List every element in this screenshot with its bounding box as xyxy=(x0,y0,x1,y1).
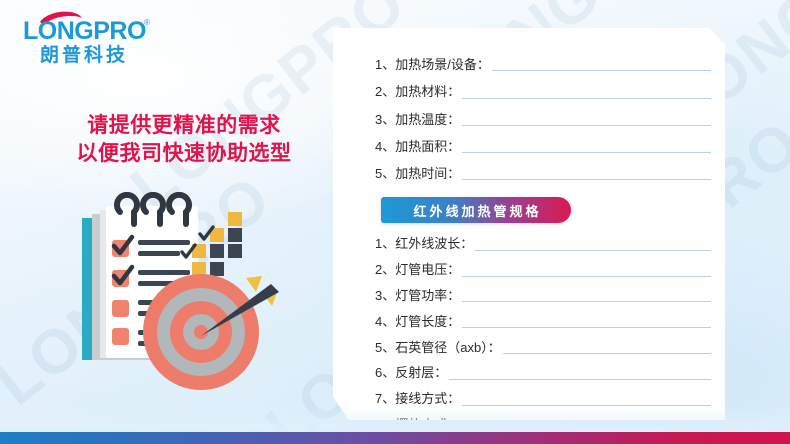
illustration-svg xyxy=(76,192,301,392)
form-label: 6、反射层： xyxy=(375,366,447,382)
form-paper-panel: 1、加热场景/设备： 2、加热材料： 3、加热温度： 4、加热面积： 5、加热时… xyxy=(333,28,725,420)
form-label: 2、灯管电压： xyxy=(375,263,460,279)
company-logo: LONGPRO ® 朗普科技 xyxy=(18,8,158,64)
form-row[interactable]: 4、加热面积： xyxy=(375,140,725,156)
form-label: 3、灯管功率： xyxy=(375,289,460,305)
target-dartboard-icon xyxy=(143,274,259,390)
form-row[interactable]: 2、加热材料： xyxy=(375,85,725,101)
section-banner-label: 红外线加热管规格 xyxy=(410,201,541,220)
form-row[interactable]: 5、加热时间： xyxy=(375,167,725,183)
form-label: 3、加热温度： xyxy=(375,113,460,129)
form-label: 4、灯管长度： xyxy=(375,315,460,331)
form-row[interactable]: 3、加热温度： xyxy=(375,113,725,129)
form-label: 7、接线方式： xyxy=(375,392,460,408)
form-input-rule[interactable] xyxy=(492,70,711,71)
lamp-spec-list: 1、红外线波长： 2、灯管电压： 3、灯管功率： 4、灯管长度： 5、石英管径（… xyxy=(375,237,725,434)
form-row[interactable]: 3、灯管功率： xyxy=(375,289,725,305)
form-row[interactable]: 4、灯管长度： xyxy=(375,315,725,331)
form-label: 1、加热场景/设备： xyxy=(375,58,490,74)
form-input-rule[interactable] xyxy=(462,301,711,302)
form-input-rule[interactable] xyxy=(462,276,711,277)
page-title: 请提供更精准的需求 以便我司快速协助选型 xyxy=(44,112,324,167)
logo-chinese-name: 朗普科技 xyxy=(40,43,128,66)
section-banner: 红外线加热管规格 xyxy=(381,197,571,223)
form-row[interactable]: 1、红外线波长： xyxy=(375,237,725,253)
logo-registered-mark: ® xyxy=(144,18,150,27)
form-input-rule[interactable] xyxy=(462,152,711,153)
form-input-rule[interactable] xyxy=(462,405,711,406)
form-input-rule[interactable] xyxy=(462,98,711,99)
form-row[interactable]: 6、反射层： xyxy=(375,366,725,382)
form-label: 4、加热面积： xyxy=(375,140,460,156)
form-label: 5、加热时间： xyxy=(375,167,460,183)
form-row[interactable]: 1、加热场景/设备： xyxy=(375,58,725,74)
form-label: 1、红外线波长： xyxy=(375,237,473,253)
form-row[interactable]: 2、灯管电压： xyxy=(375,263,725,279)
heating-requirements-list: 1、加热场景/设备： 2、加热材料： 3、加热温度： 4、加热面积： 5、加热时… xyxy=(375,58,725,183)
form-label: 2、加热材料： xyxy=(375,85,460,101)
form-input-rule[interactable] xyxy=(503,353,711,354)
headline-line-1: 请提供更精准的需求 xyxy=(44,112,324,140)
form-input-rule[interactable] xyxy=(475,250,711,251)
logo-svg: LONGPRO ® 朗普科技 xyxy=(18,8,158,66)
form-label: 5、石英管径（axb）： xyxy=(375,341,501,357)
form-input-rule[interactable] xyxy=(449,379,711,380)
form-row[interactable]: 7、接线方式： xyxy=(375,392,725,408)
headline-line-2: 以便我司快速协助选型 xyxy=(44,140,324,168)
form-row[interactable]: 5、石英管径（axb）： xyxy=(375,341,725,357)
checklist-target-illustration xyxy=(76,192,301,392)
slide-canvas: LONGPRO LONGPRO LONGPRO LONGPRO LONGPRO … xyxy=(0,0,790,444)
form-input-rule[interactable] xyxy=(462,125,711,126)
form-input-rule[interactable] xyxy=(462,179,711,180)
logo-wordmark: LONGPRO xyxy=(23,17,146,45)
form-input-rule[interactable] xyxy=(462,327,711,328)
bottom-accent-bar xyxy=(0,432,790,444)
